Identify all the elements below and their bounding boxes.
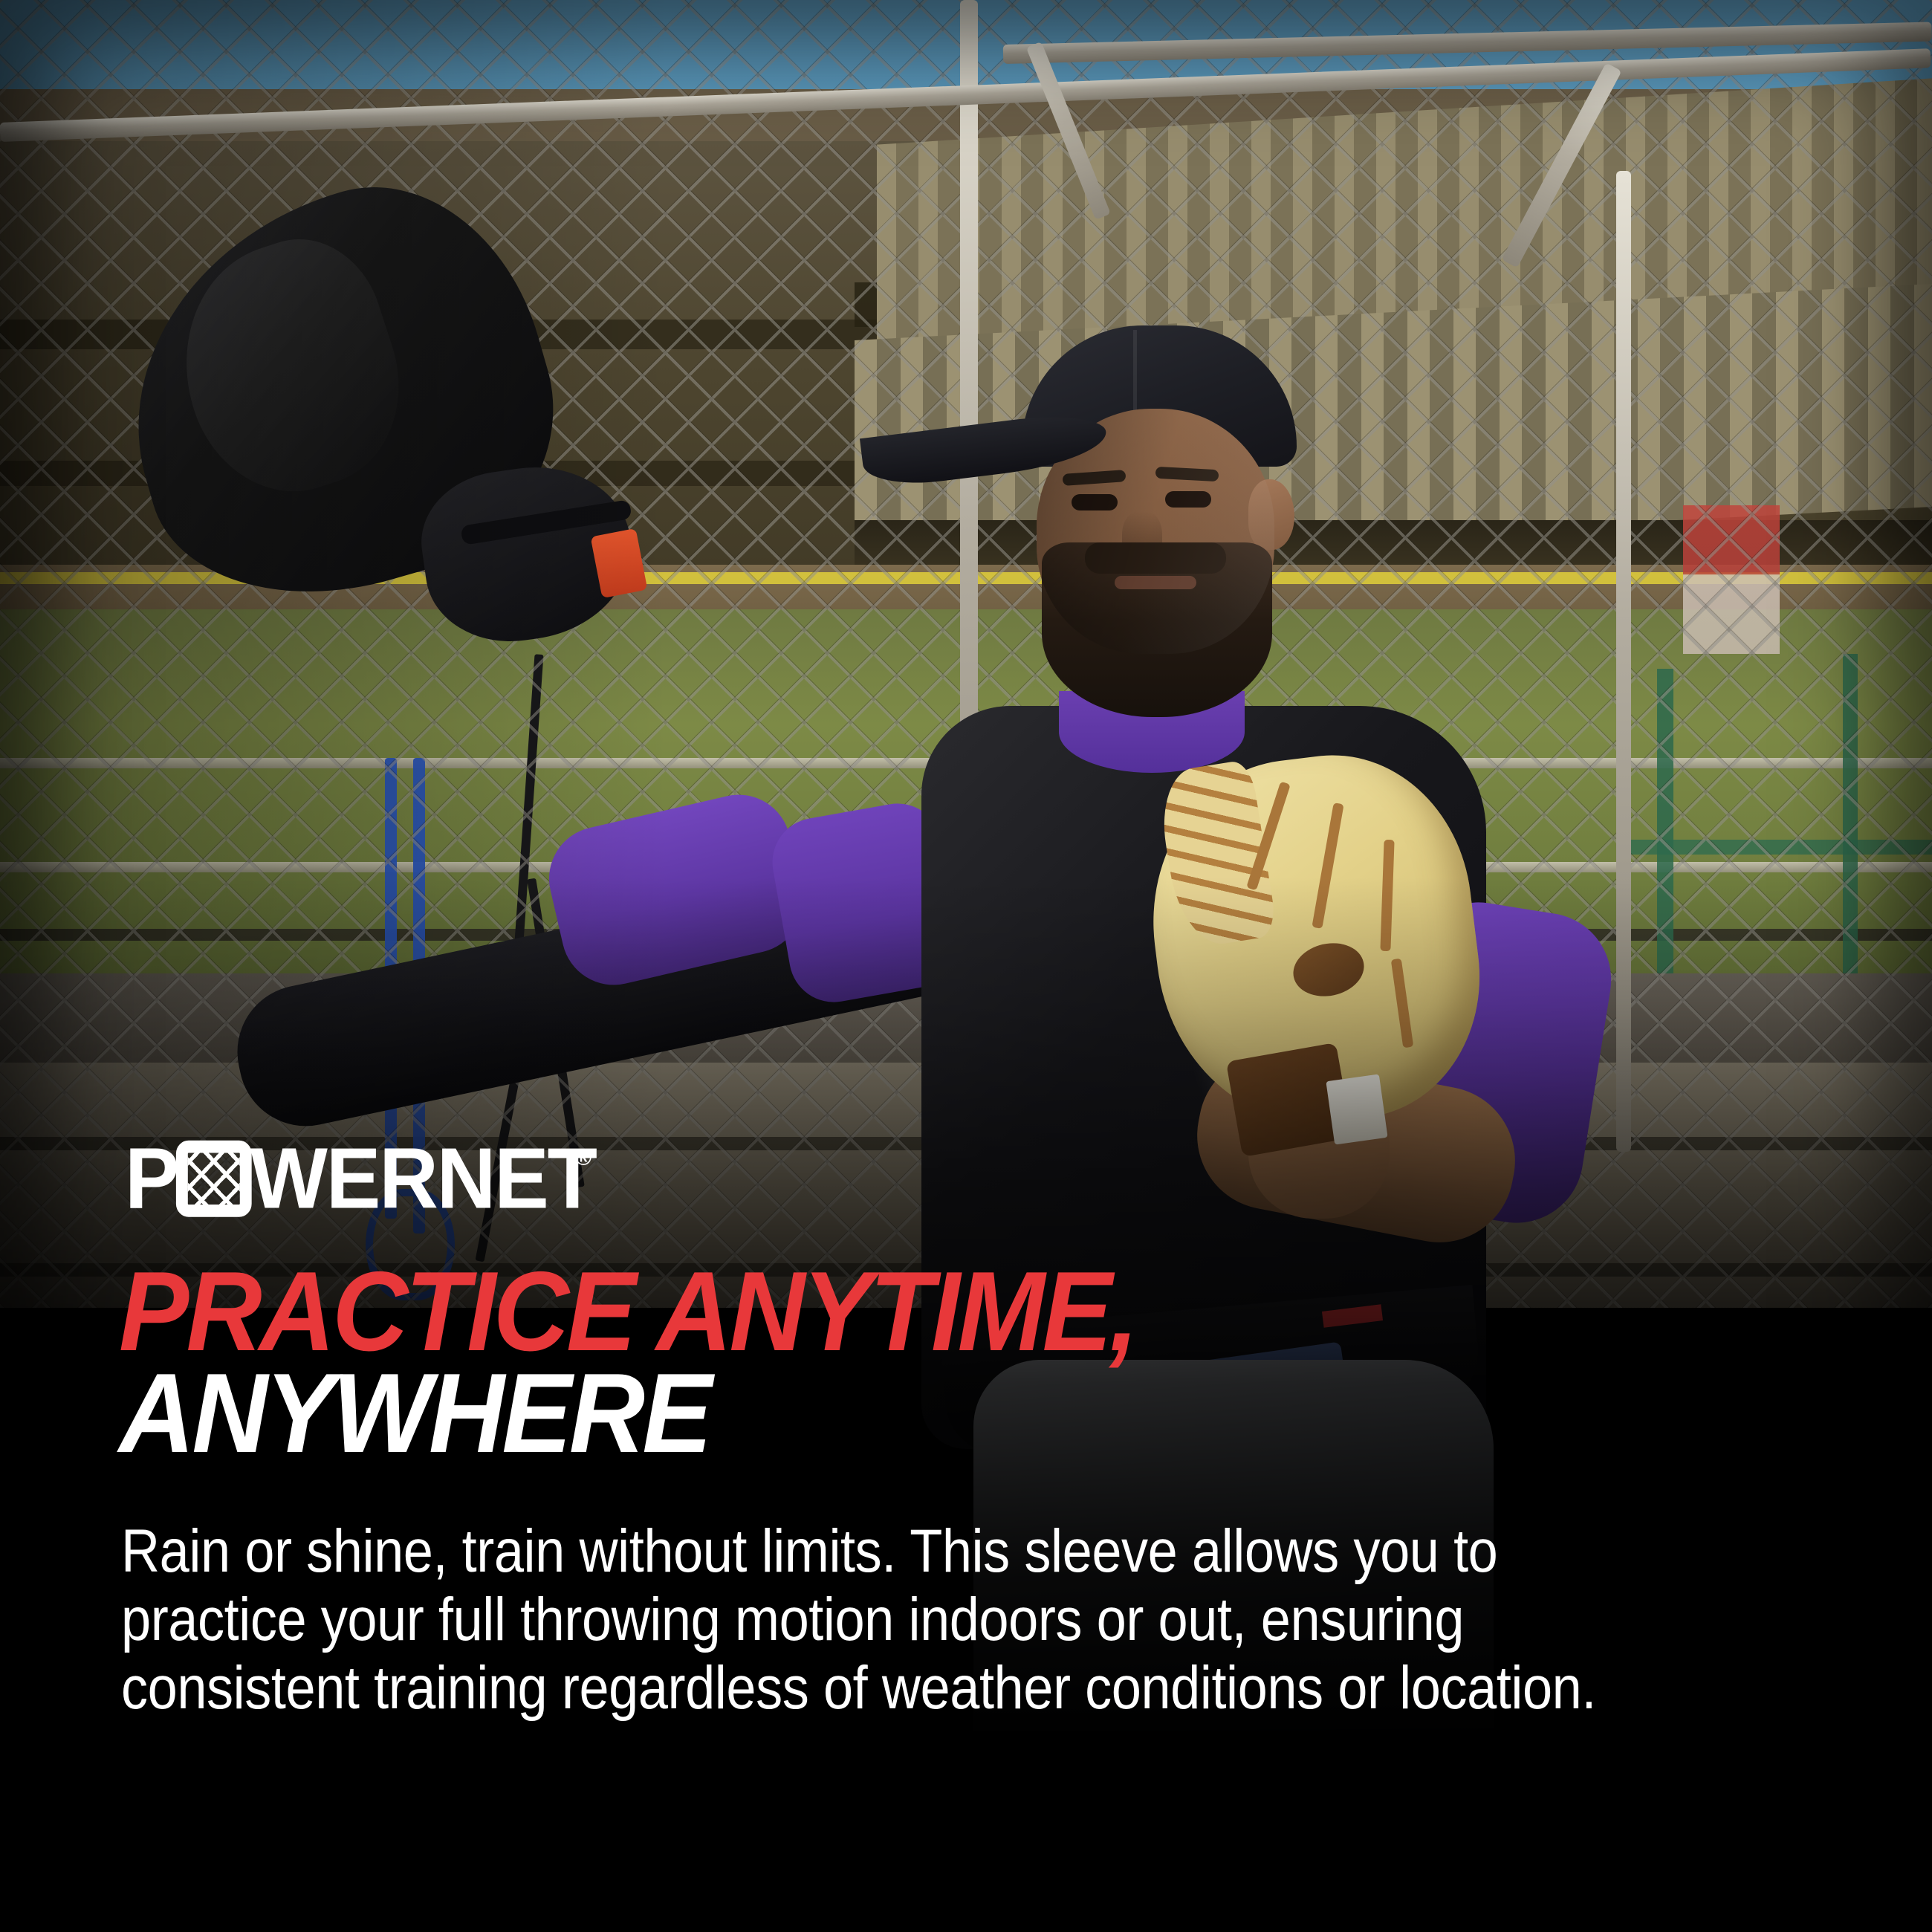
powernet-logo: P WERNET ® [125,1135,591,1213]
text-overlay: P WERNET ® PRACTICE ANYTIME, ANYWHERE Ra… [0,0,1932,1932]
body-paragraph: Rain or shine, train without limits. Thi… [121,1517,1638,1722]
net-mesh-o-icon [176,1141,252,1217]
logo-text-part-2: WERNET [250,1135,596,1222]
powernet-wordmark: P WERNET [125,1135,596,1222]
headline: PRACTICE ANYTIME, ANYWHERE [119,1263,1858,1462]
headline-line-1: PRACTICE ANYTIME, [119,1263,1736,1361]
logo-text-part-1: P [125,1135,178,1222]
headline-line-2: ANYWHERE [119,1365,1736,1462]
marketing-banner: P WERNET ® PRACTICE ANYTIME, ANYWHERE Ra… [0,0,1932,1932]
